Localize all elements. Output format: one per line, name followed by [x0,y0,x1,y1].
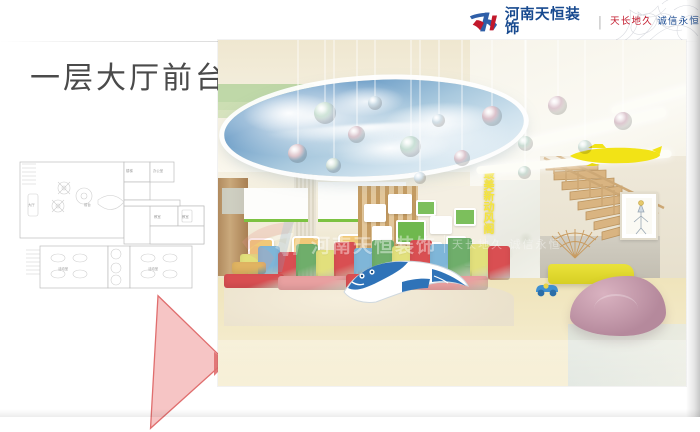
bean-bag-seam [594,294,638,324]
sphere-highlight [618,115,624,120]
plan-label-stair: 楼梯 [126,168,133,173]
watermark-secondary-logo-icon [236,216,306,276]
hanging-sphere [414,172,426,184]
blue-toy-car-icon [534,280,560,298]
sphere-highlight [319,106,326,112]
floor-plan-drawing: 大厅 前台 楼梯 办公室 活动室 活动室 教室 教室 [14,150,210,290]
display-cube [388,194,412,214]
sphere-highlight [292,147,298,152]
plan-label-room-b: 活动室 [148,266,159,271]
art-illustration [626,198,652,234]
plan-label-office: 办公室 [153,168,164,173]
plan-label-room-a: 活动室 [58,266,69,271]
brand-logo[interactable]: 河南天恒装饰 | 天长地久 诚信永恒 [468,8,700,36]
sphere-highlight [417,174,421,177]
sphere-highlight [521,168,525,172]
hanging-sphere [454,150,470,166]
hanging-sphere [368,96,382,110]
door-window [222,188,244,214]
brand-name: 河南天恒装饰 [505,8,590,37]
hanging-sphere [518,136,533,151]
watermark-divider [444,235,445,253]
watermark-slogan: 天长地久 诚信永恒 [452,236,562,252]
plan-label-room-d: 教室 [182,214,189,219]
slide-header: 河南天恒装饰 | 天长地久 诚信永恒 [0,0,700,42]
page-edge-shadow-right [686,0,700,417]
hanging-sphere [518,166,531,179]
plan-label-room-c: 教室 [154,214,161,219]
plan-label-reception: 前台 [84,202,91,207]
display-cube [416,200,436,216]
art-lineart-icon [626,198,656,238]
display-cube [364,204,386,222]
hanging-sphere [348,126,365,143]
brand-slogan-part1: 天长地久 [610,16,653,27]
sphere-highlight [435,116,439,120]
hanging-sphere [400,136,421,157]
sphere-highlight [405,139,412,145]
plan-label-hall: 大厅 [28,202,35,207]
hanging-sphere [614,112,632,130]
hanging-sphere [432,114,445,127]
floor-reflection [218,340,686,386]
watermark-brand: 河南天恒装饰 [311,231,437,258]
lobby-render-photo[interactable]: 最美新动风阁 [218,40,686,386]
page-edge-shadow-bottom [0,409,700,417]
foam-block [224,274,284,288]
brand-divider: | [598,16,602,29]
th-monogram-logo-icon [468,9,500,35]
sphere-highlight [352,129,358,134]
slide-page: 河南天恒装饰 | 天长地久 诚信永恒 一层大厅前台 [0,0,700,417]
sphere-highlight [329,160,334,164]
hanging-sphere [578,140,592,154]
sphere-highlight [486,109,493,115]
sphere-highlight [371,98,376,102]
floor-plan[interactable]: 大厅 前台 楼梯 办公室 活动室 活动室 教室 教室 [14,150,210,290]
hanging-sphere [326,158,341,173]
photo-watermark: 河南天恒装饰 天长地久 诚信永恒 [270,222,600,266]
sphere-highlight [581,142,586,146]
hanging-sphere [288,144,307,163]
hanging-sphere [482,106,502,126]
hanging-sphere [548,96,567,115]
page-title: 一层大厅前台 [30,62,230,95]
sphere-highlight [458,153,463,157]
sphere-highlight [552,99,558,104]
framed-wall-art [620,192,658,240]
